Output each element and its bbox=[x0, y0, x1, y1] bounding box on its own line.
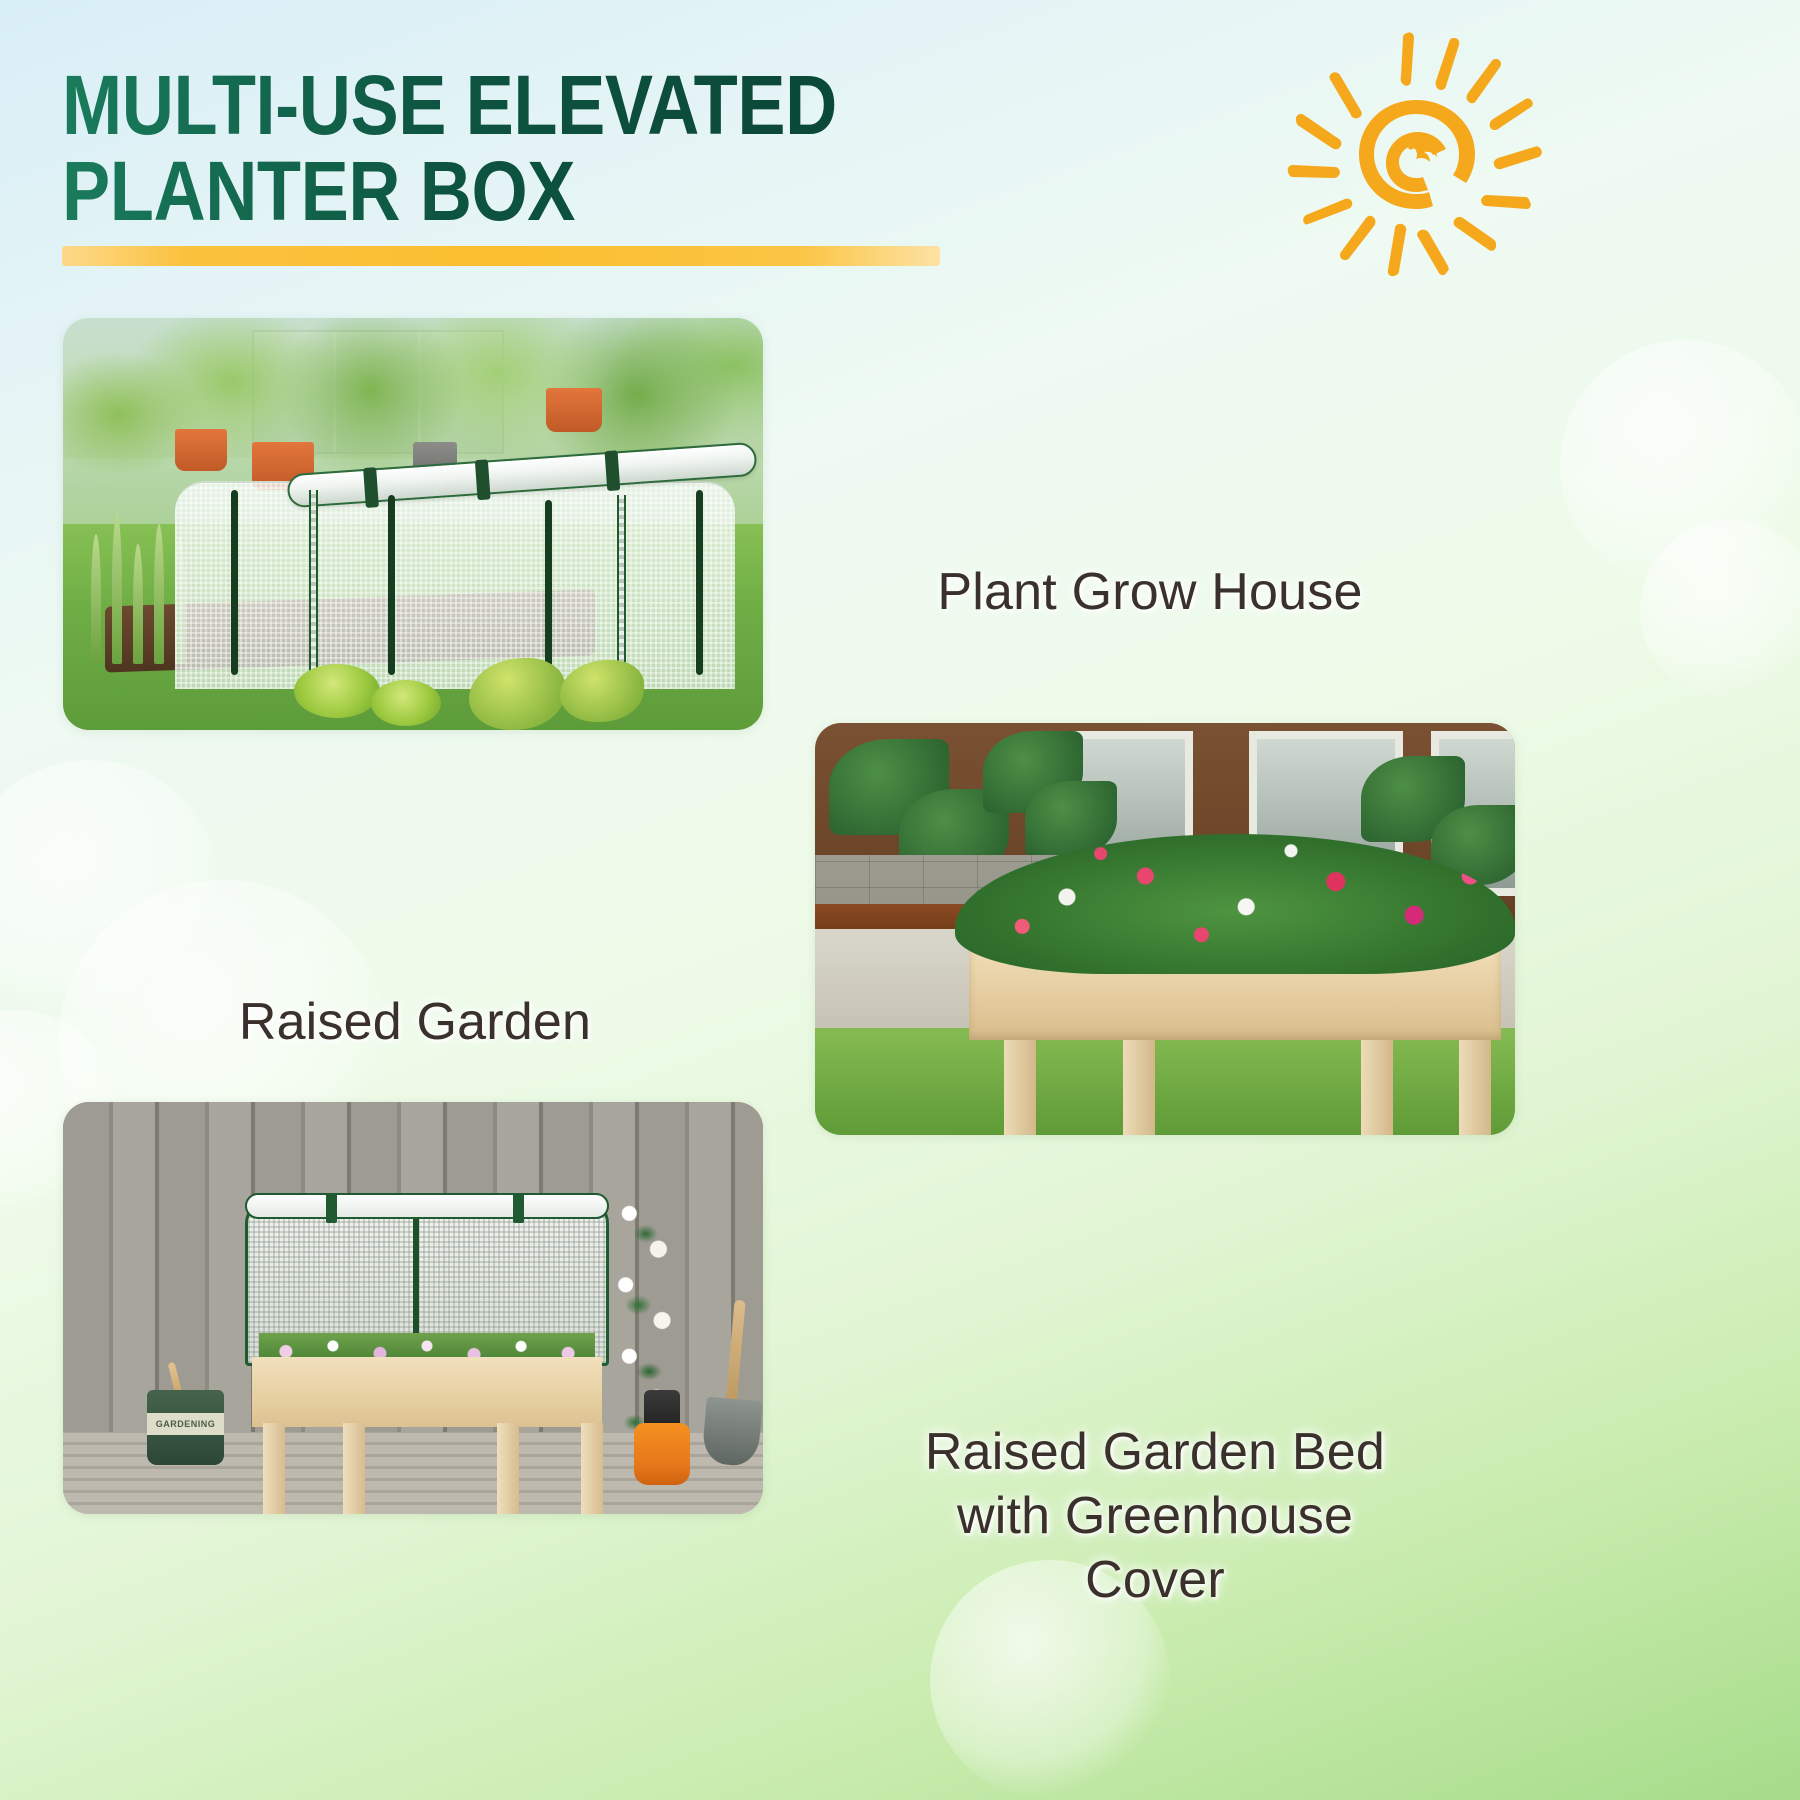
caption-raised-garden-bed-greenhouse-cover: Raised Garden Bed with Greenhouse Cover bbox=[790, 1420, 1520, 1612]
product-infographic: MULTI-USE ELEVATED PLANTER BOX bbox=[0, 0, 1800, 1800]
caption-plant-grow-house: Plant Grow House bbox=[800, 560, 1500, 624]
page-title: MULTI-USE ELEVATED PLANTER BOX bbox=[62, 62, 1062, 234]
bokeh-circle bbox=[1560, 340, 1800, 590]
photo-raised-garden bbox=[815, 723, 1515, 1135]
page-title-line-2: PLANTER BOX bbox=[62, 148, 922, 234]
sun-icon bbox=[1258, 14, 1570, 294]
bokeh-circle bbox=[0, 760, 220, 1020]
caption-raised-garden: Raised Garden bbox=[60, 990, 770, 1054]
gardening-bucket-label: GARDENING bbox=[147, 1413, 224, 1435]
sprayer-nozzle bbox=[644, 1390, 680, 1427]
page-title-line-1: MULTI-USE ELEVATED bbox=[62, 62, 922, 148]
bokeh-circle bbox=[1640, 520, 1800, 700]
accent-rule bbox=[62, 246, 940, 266]
gardening-bucket: GARDENING bbox=[147, 1390, 224, 1464]
photo-plant-grow-house bbox=[63, 318, 763, 730]
photo-raised-garden-bed-greenhouse-cover: GARDENING bbox=[63, 1102, 763, 1514]
sprayer-bottle bbox=[634, 1423, 690, 1485]
